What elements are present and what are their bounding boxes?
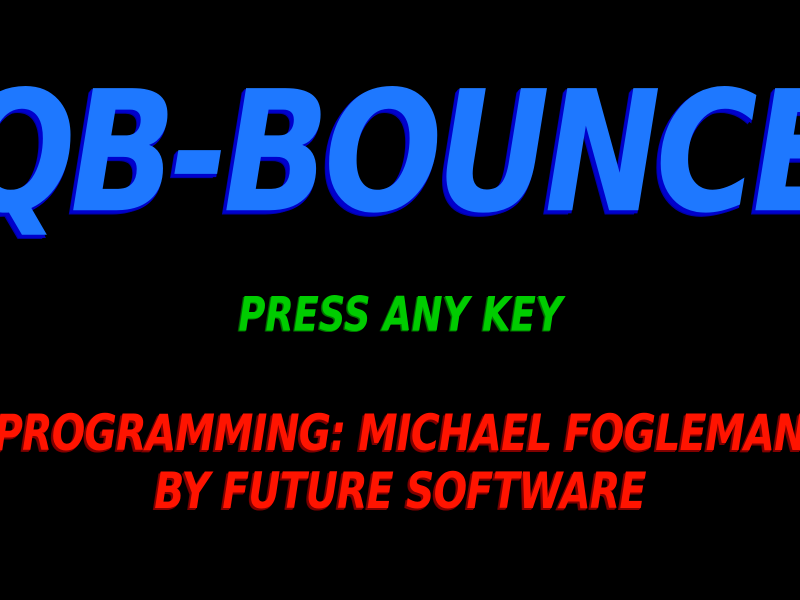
game-title: QB-BOUNCE bbox=[0, 78, 800, 228]
press-any-key-text[interactable]: PRESS ANY KEY bbox=[238, 291, 562, 338]
title-screen[interactable]: QB-BOUNCE PRESS ANY KEY PROGRAMMING: MIC… bbox=[0, 0, 800, 600]
credit-line-programming: PROGRAMMING: MICHAEL FOGLEMAN bbox=[0, 408, 800, 458]
credits: PROGRAMMING: MICHAEL FOGLEMAN BY FUTURE … bbox=[0, 408, 800, 516]
credit-line-publisher: BY FUTURE SOFTWARE bbox=[154, 466, 645, 516]
game-title-text: QB-BOUNCE bbox=[0, 69, 800, 236]
press-any-key-prompt[interactable]: PRESS ANY KEY bbox=[0, 288, 800, 340]
